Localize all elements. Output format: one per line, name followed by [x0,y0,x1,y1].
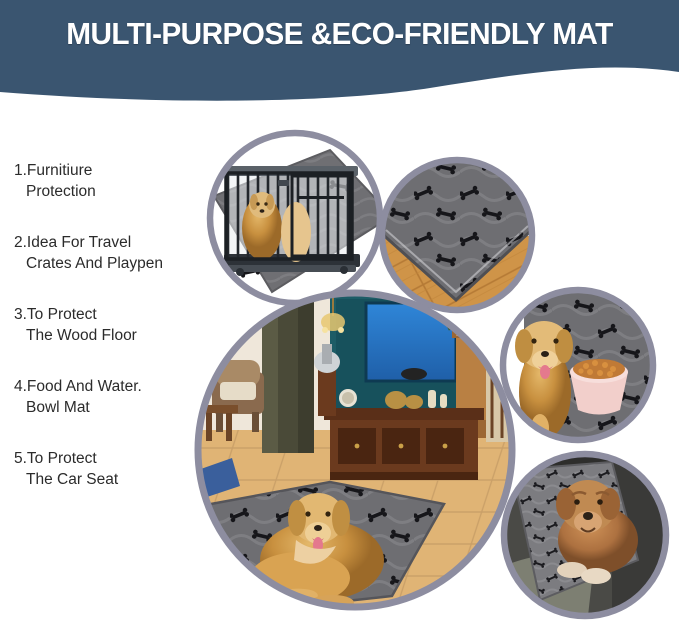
photo-bubble-group [0,0,679,642]
living-room-photo [198,293,512,614]
food-bowl-photo [500,288,656,444]
wood-floor-photo [380,158,536,314]
car-seat-photo [504,454,666,616]
infographic-page: MULTI-PURPOSE &ECO-FRIENDLY MAT 1.Furnit… [0,0,679,642]
crate-photo [205,128,392,310]
